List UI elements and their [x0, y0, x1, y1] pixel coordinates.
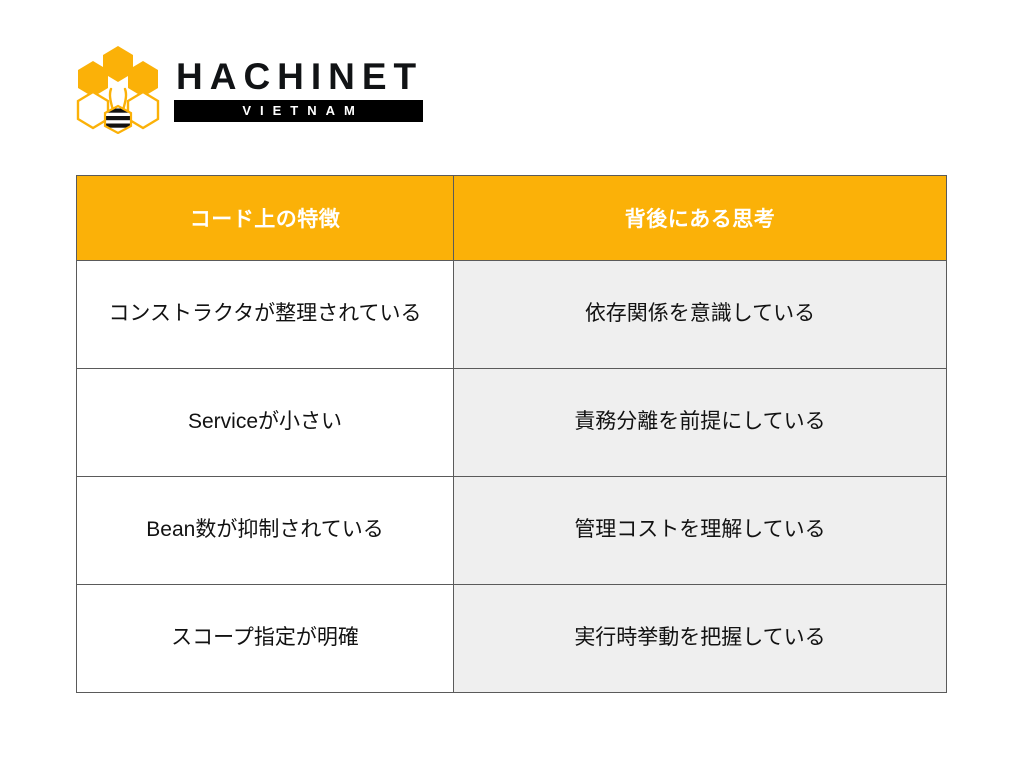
- column-header-underlying-thought: 背後にある思考: [454, 176, 947, 261]
- comparison-table-container: コード上の特徴 背後にある思考 コンストラクタが整理されている 依存関係を意識し…: [76, 175, 946, 693]
- cell-thought: 管理コストを理解している: [454, 477, 947, 585]
- brand-wordmark: HACHINET VIETNAM: [174, 58, 423, 122]
- cell-feature: コンストラクタが整理されている: [77, 261, 454, 369]
- cell-thought: 実行時挙動を把握している: [454, 585, 947, 693]
- brand-subtitle: VIETNAM: [233, 104, 364, 117]
- cell-feature: Serviceが小さい: [77, 369, 454, 477]
- honeycomb-bee-icon: [76, 44, 160, 134]
- cell-thought: 依存関係を意識している: [454, 261, 947, 369]
- table-header: コード上の特徴 背後にある思考: [77, 176, 947, 261]
- cell-feature: スコープ指定が明確: [77, 585, 454, 693]
- table-row: Bean数が抑制されている 管理コストを理解している: [77, 477, 947, 585]
- column-header-code-feature: コード上の特徴: [77, 176, 454, 261]
- table-row: コンストラクタが整理されている 依存関係を意識している: [77, 261, 947, 369]
- table-header-row: コード上の特徴 背後にある思考: [77, 176, 947, 261]
- brand-subtitle-bar: VIETNAM: [174, 100, 423, 122]
- brand-logo: HACHINET VIETNAM: [76, 44, 423, 134]
- table-body: コンストラクタが整理されている 依存関係を意識している Serviceが小さい …: [77, 261, 947, 693]
- cell-thought: 責務分離を前提にしている: [454, 369, 947, 477]
- table-row: Serviceが小さい 責務分離を前提にしている: [77, 369, 947, 477]
- cell-feature: Bean数が抑制されている: [77, 477, 454, 585]
- comparison-table: コード上の特徴 背後にある思考 コンストラクタが整理されている 依存関係を意識し…: [76, 175, 947, 693]
- brand-name: HACHINET: [174, 58, 423, 96]
- table-row: スコープ指定が明確 実行時挙動を把握している: [77, 585, 947, 693]
